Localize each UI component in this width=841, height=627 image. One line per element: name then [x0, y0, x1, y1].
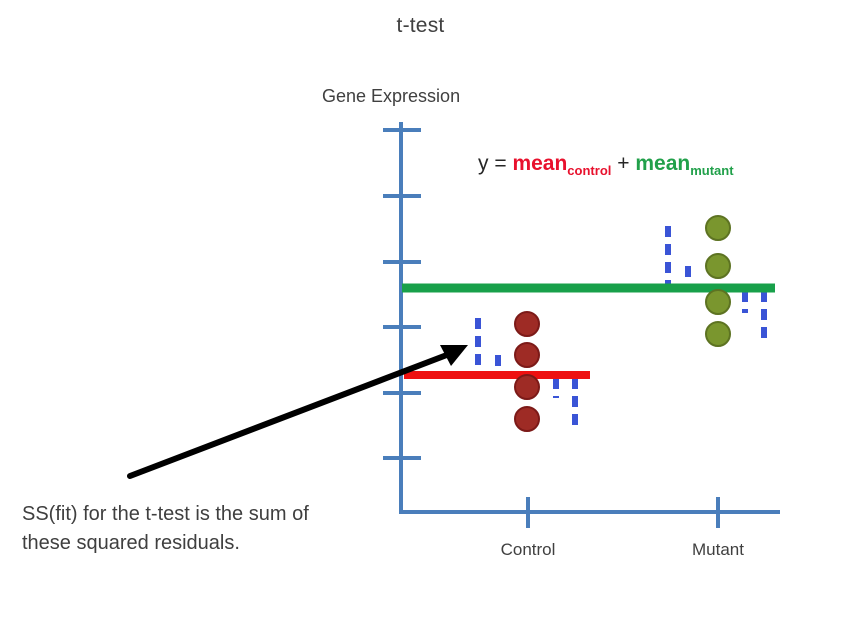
data-point [706, 254, 730, 278]
residual-marks-control-right [556, 378, 575, 428]
slide-canvas: t-test Gene Expression y = meancontrol +… [0, 0, 841, 627]
residual-marks-control-left [478, 318, 498, 374]
data-point [515, 375, 539, 399]
residual-marks-mutant-right [745, 291, 764, 342]
data-point [515, 407, 539, 431]
data-point [706, 216, 730, 240]
x-axis-label-control: Control [468, 540, 588, 560]
data-point [706, 322, 730, 346]
mutant-data-points [706, 216, 730, 346]
annotation-caption: SS(fit) for the t-test is the sum of the… [22, 500, 352, 558]
data-point [515, 343, 539, 367]
data-point [515, 312, 539, 336]
data-point [706, 290, 730, 314]
x-axis-label-mutant: Mutant [658, 540, 778, 560]
residual-marks-mutant-left [668, 226, 688, 287]
